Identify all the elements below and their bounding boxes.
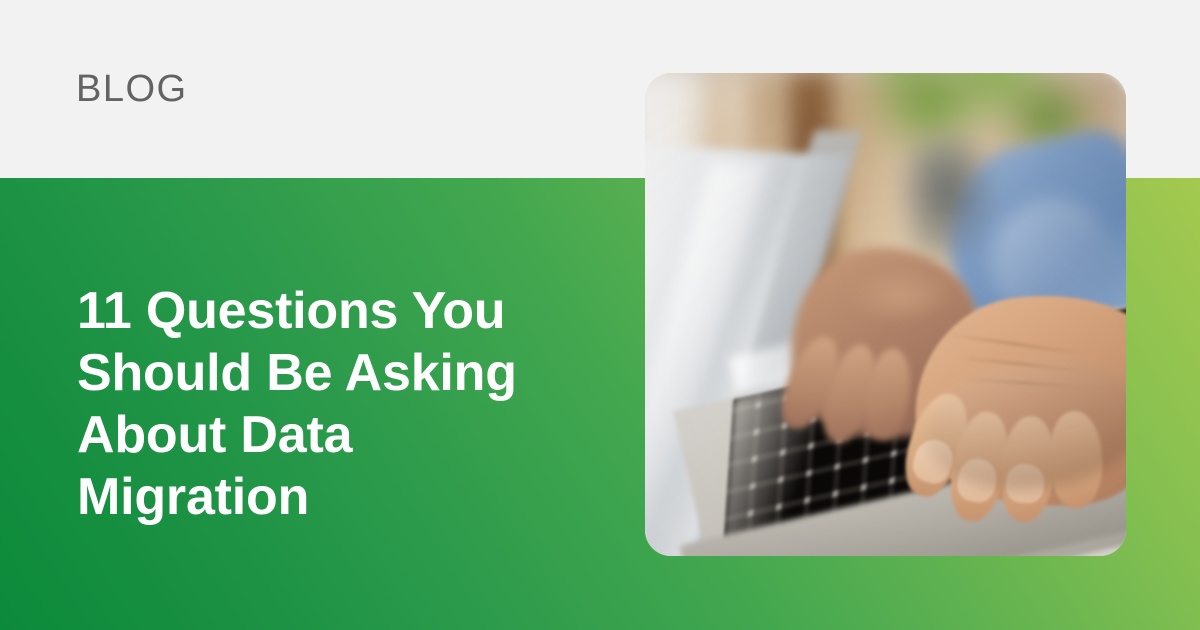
hero-photo-card — [645, 73, 1126, 556]
hero-photo-laptop-typing — [645, 73, 1126, 556]
headline-line-2: Should Be Asking — [77, 342, 547, 404]
headline-line-1: 11 Questions You — [77, 280, 547, 342]
headline-line-4: Migration — [77, 466, 547, 528]
shirt-shadow — [895, 121, 1001, 266]
eyebrow-label-blog: BLOG — [76, 70, 188, 108]
blog-banner-card: BLOG 11 Questions You Should Be Asking A… — [0, 0, 1200, 630]
page-title: 11 Questions You Should Be Asking About … — [77, 280, 547, 528]
headline-line-3: About Data — [77, 404, 547, 466]
left-hand-knuckles — [847, 266, 953, 324]
